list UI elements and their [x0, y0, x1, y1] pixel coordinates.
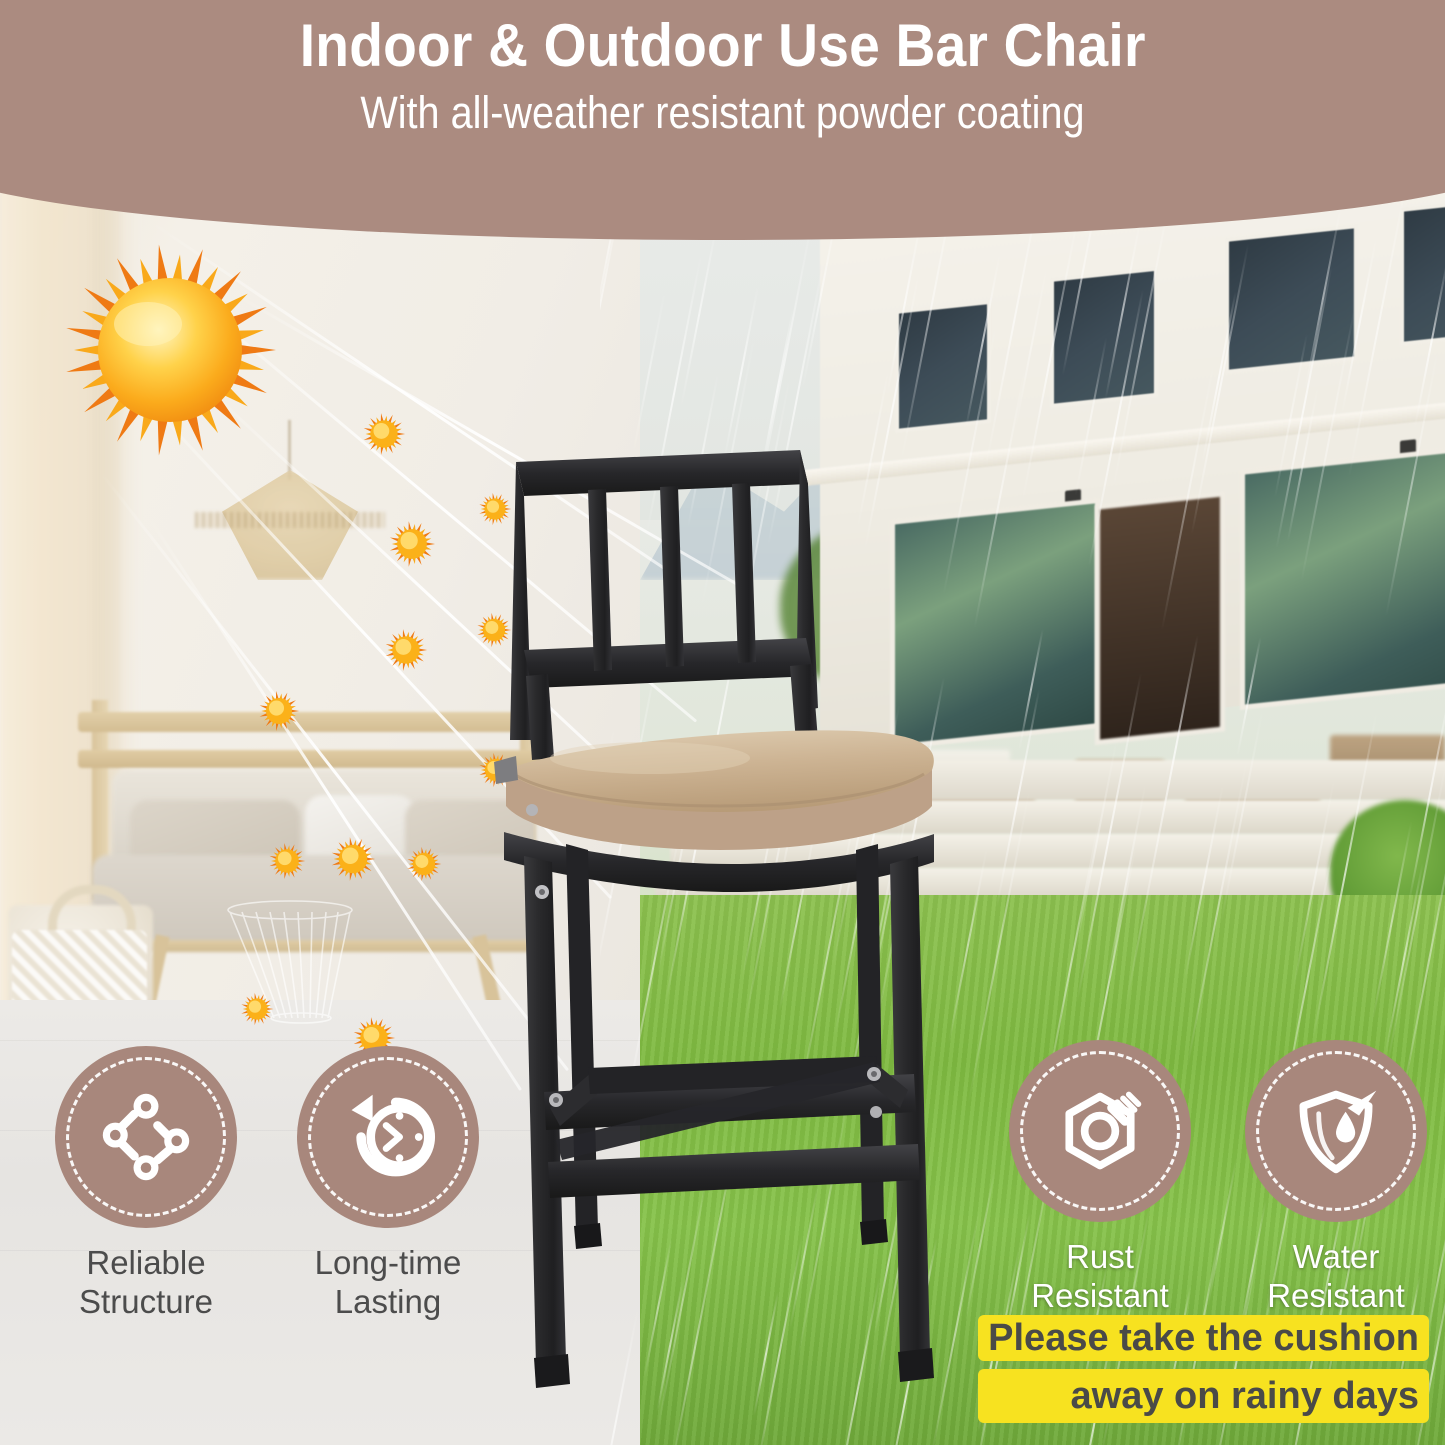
clock-arrow-icon — [340, 1089, 436, 1185]
house-window-3 — [1225, 224, 1358, 374]
feature-label: Long-time Lasting — [315, 1244, 462, 1322]
product-banner: Indoor & Outdoor Use Bar Chair With all-… — [0, 0, 1445, 1445]
house-window-2 — [1050, 267, 1158, 408]
node-network-icon — [98, 1089, 194, 1185]
feature-badge — [1245, 1040, 1427, 1222]
page-title: Indoor & Outdoor Use Bar Chair — [300, 14, 1146, 78]
feature-long-time-lasting[interactable]: Long-time Lasting — [288, 1046, 488, 1322]
feature-badge — [55, 1046, 237, 1228]
feature-label: Water Resistant — [1267, 1238, 1405, 1316]
hex-nut-bolt-icon — [1052, 1083, 1148, 1179]
note-line-2: away on rainy days — [978, 1369, 1429, 1423]
page-subtitle: With all-weather resistant powder coatin… — [360, 88, 1084, 138]
header-banner: Indoor & Outdoor Use Bar Chair With all-… — [0, 0, 1445, 240]
open-doorway — [1095, 491, 1225, 745]
pendant-lamp-band — [195, 512, 385, 528]
wire-side-table — [218, 900, 363, 1025]
feature-rust-resistant[interactable]: Rust Resistant — [1000, 1040, 1200, 1316]
house-window-1 — [895, 300, 991, 433]
cushion-care-note: Please take the cushion away on rainy da… — [978, 1313, 1429, 1423]
shield-droplet-icon — [1288, 1083, 1384, 1179]
glass-door-right — [1240, 440, 1445, 710]
feature-badge — [1009, 1040, 1191, 1222]
feature-reliable-structure[interactable]: Reliable Structure — [46, 1046, 246, 1322]
feature-water-resistant[interactable]: Water Resistant — [1236, 1040, 1436, 1316]
feature-badge — [297, 1046, 479, 1228]
feature-label: Reliable Structure — [79, 1244, 213, 1322]
note-line-1: Please take the cushion — [978, 1315, 1429, 1361]
feature-label: Rust Resistant — [1031, 1238, 1169, 1316]
bar-chair-product — [470, 440, 1000, 1410]
sun-icon — [60, 240, 280, 460]
